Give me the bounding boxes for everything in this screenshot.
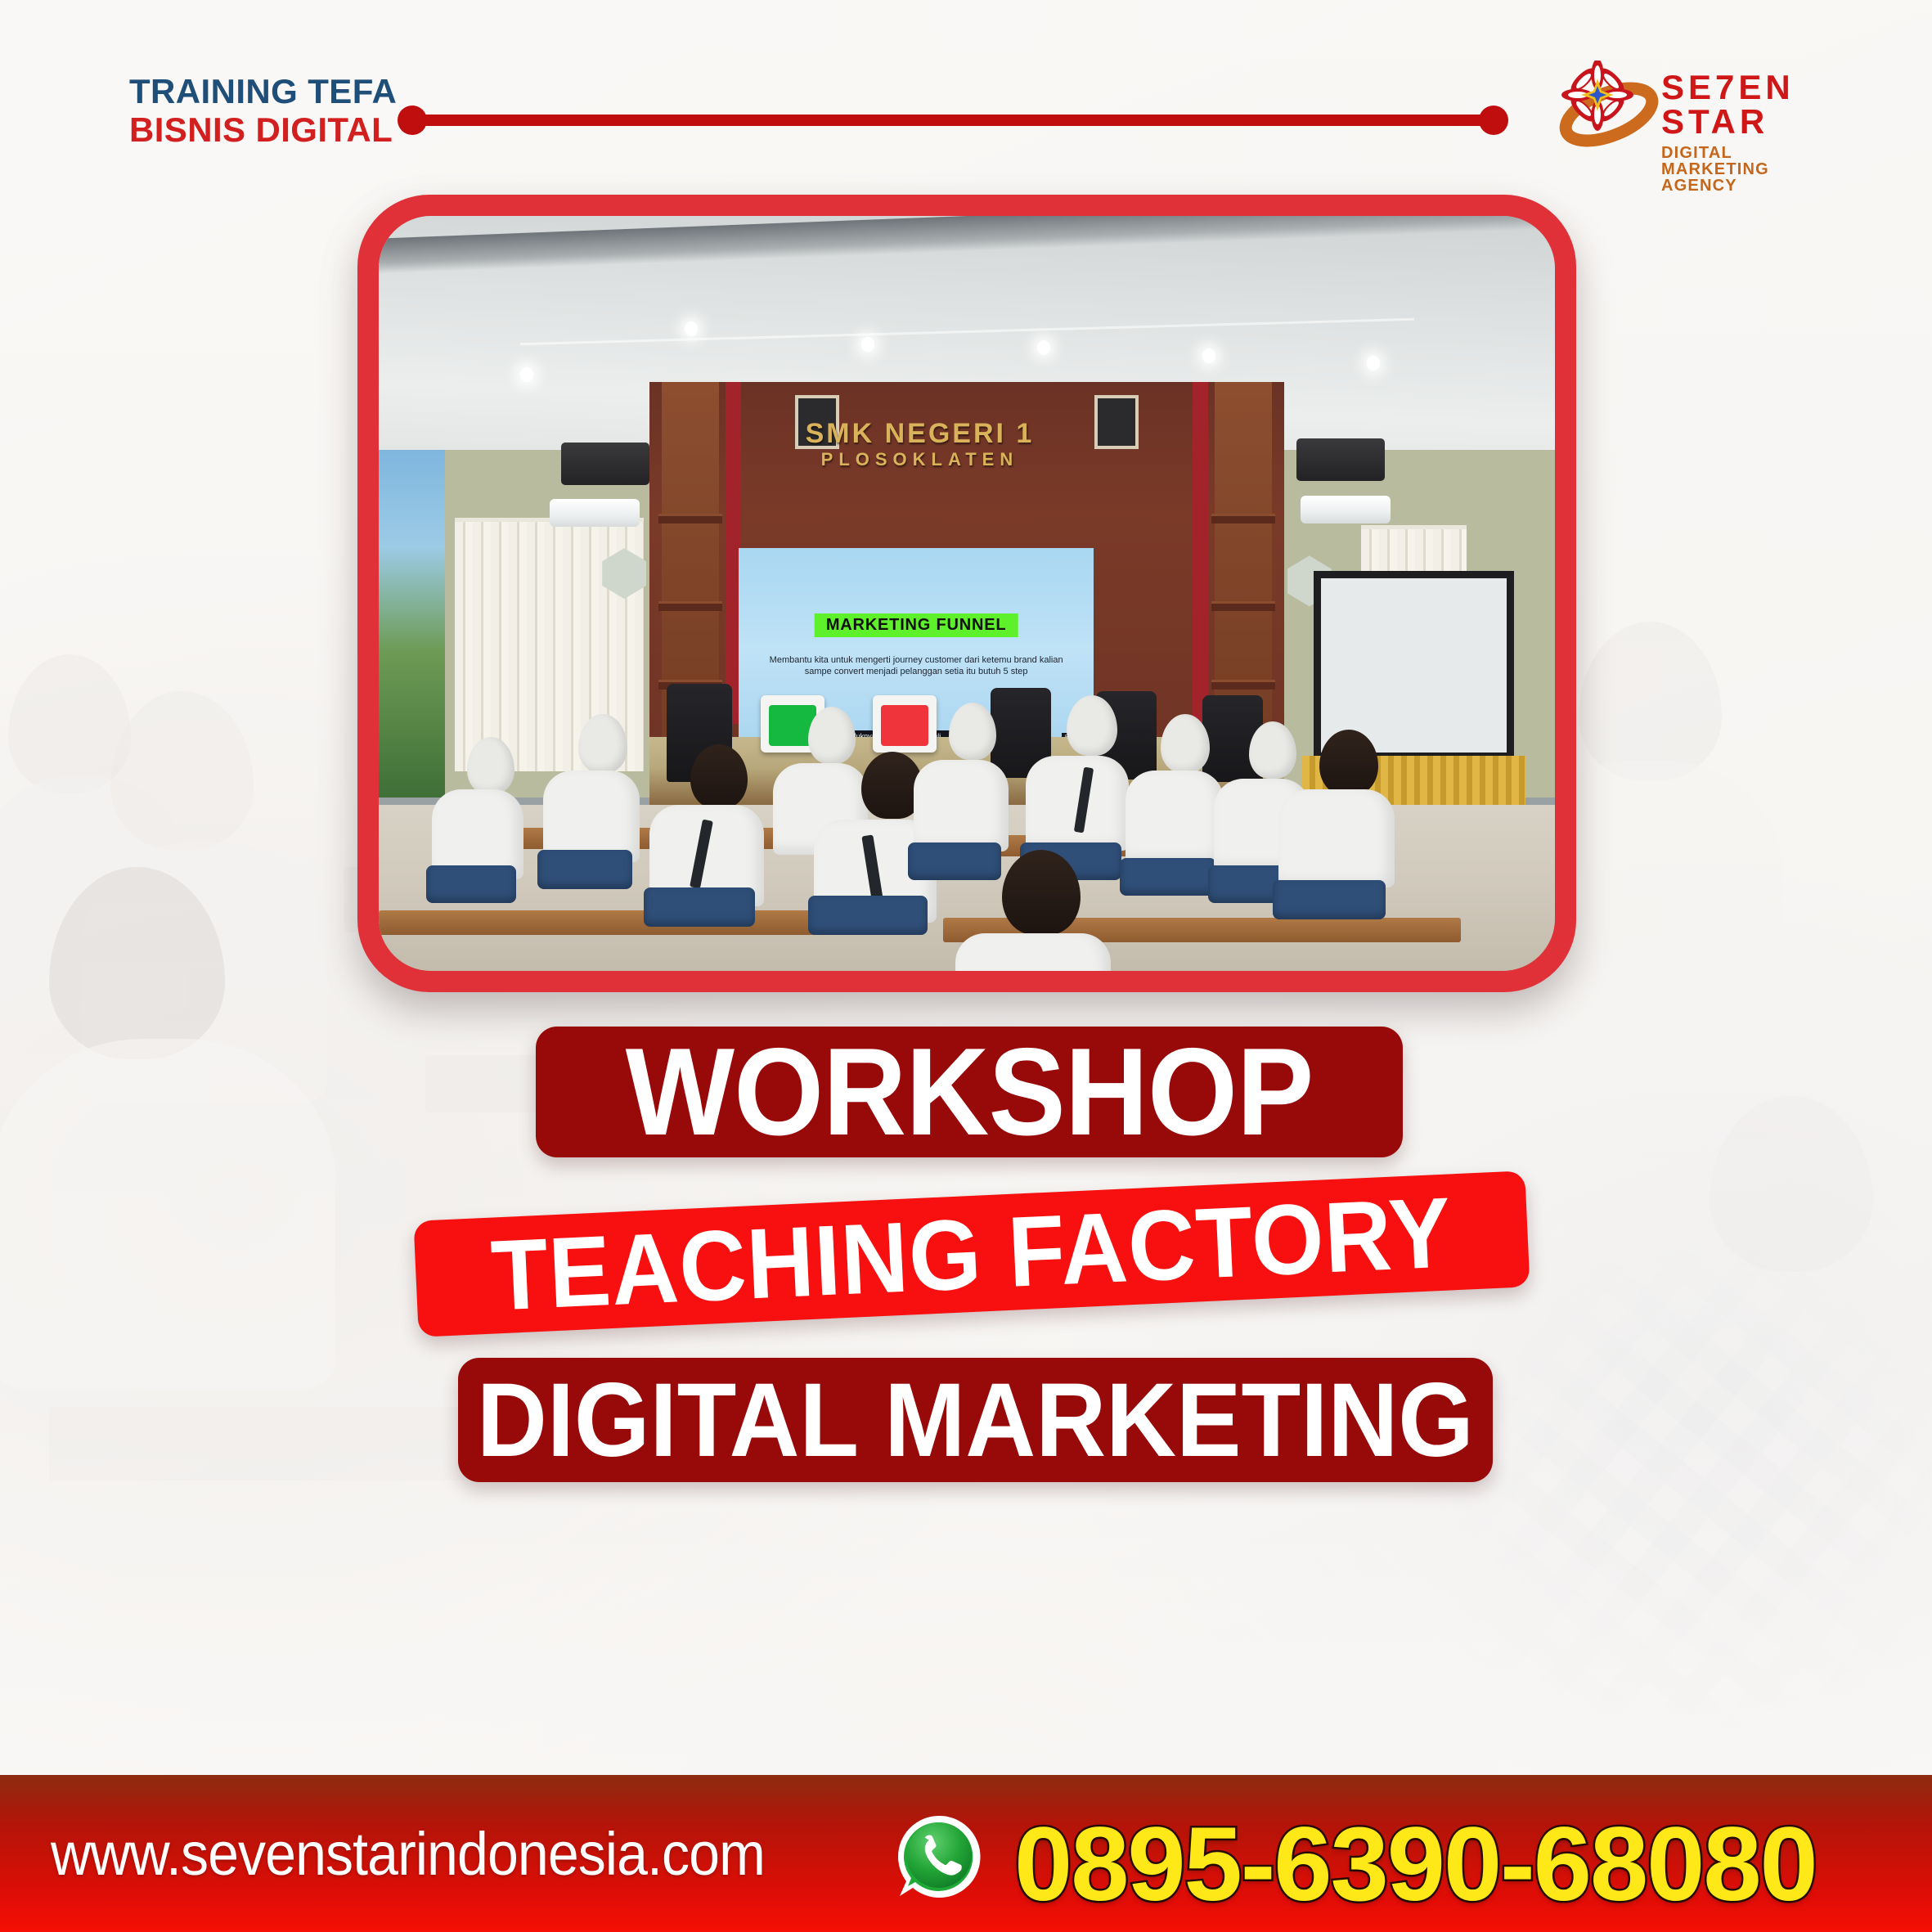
official-portrait-right xyxy=(1094,395,1139,449)
logo-tagline: DIGITAL MARKETING AGENCY xyxy=(1661,145,1828,194)
chair xyxy=(644,887,755,927)
contact-footer: www.sevenstarindonesia.com 0895-6390-680… xyxy=(0,1775,1932,1932)
chair xyxy=(1273,880,1386,919)
student-torso xyxy=(914,760,1009,851)
nature-mural xyxy=(379,450,445,798)
air-conditioner-right xyxy=(1301,496,1391,523)
headline-line-2: TEACHING FACTORY xyxy=(489,1175,1454,1332)
header: TRAINING TEFA BISNIS DIGITAL xyxy=(0,0,1932,180)
speaker-left xyxy=(561,443,649,485)
page-title: TRAINING TEFA BISNIS DIGITAL xyxy=(129,72,397,149)
chair xyxy=(426,865,516,903)
slide-title: MARKETING FUNNEL xyxy=(815,613,1018,637)
student-torso xyxy=(543,771,640,862)
school-name-line-2: PLOSOKLATEN xyxy=(744,449,1096,470)
slide-body-text: Membantu kita untuk mengerti journey cus… xyxy=(760,654,1072,678)
brand-logo: SE7EN STAR DIGITAL MARKETING AGENCY xyxy=(1558,59,1828,151)
student-torso xyxy=(1278,789,1395,887)
student-head xyxy=(690,744,748,808)
header-rule xyxy=(391,113,1515,128)
rule-bar xyxy=(412,115,1494,126)
title-line-1: TRAINING TEFA xyxy=(129,72,397,110)
student-torso-foreground xyxy=(955,933,1111,971)
chair xyxy=(908,842,1001,880)
workshop-photo-card: SMK NEGERI 1 PLOSOKLATEN MARKETING FUNNE… xyxy=(357,195,1576,992)
poster-canvas: TRAINING TEFA BISNIS DIGITAL xyxy=(0,0,1932,1932)
headline-line-1: WORKSHOP xyxy=(626,1021,1314,1164)
logo-wordmark: SE7EN STAR DIGITAL MARKETING AGENCY xyxy=(1661,70,1828,194)
chair xyxy=(1120,858,1216,896)
student-head-foreground xyxy=(1002,850,1081,935)
seven-star-flower-swoosh-logo-icon xyxy=(1558,61,1665,149)
chair xyxy=(537,850,632,889)
air-conditioner-left xyxy=(550,499,640,527)
whatsapp-icon[interactable] xyxy=(895,1813,983,1901)
school-name-line-1: SMK NEGERI 1 xyxy=(744,420,1096,449)
website-url[interactable]: www.sevenstarindonesia.com xyxy=(51,1819,765,1889)
headline-line-3: DIGITAL MARKETING xyxy=(477,1360,1474,1480)
speaker-right xyxy=(1296,438,1385,481)
headline-group: WORKSHOP TEACHING FACTORY DIGITAL MARKET… xyxy=(0,1014,1932,1530)
rule-dot-right-icon xyxy=(1479,106,1508,135)
chair xyxy=(808,896,928,935)
headline-badge-digital-marketing: DIGITAL MARKETING xyxy=(458,1358,1493,1482)
workshop-classroom-photo: SMK NEGERI 1 PLOSOKLATEN MARKETING FUNNE… xyxy=(379,216,1555,971)
school-signage: SMK NEGERI 1 PLOSOKLATEN xyxy=(744,420,1096,470)
headline-badge-workshop: WORKSHOP xyxy=(536,1027,1403,1157)
phone-number[interactable]: 0895-6390-68080 xyxy=(1014,1804,1817,1925)
logo-name: SE7EN STAR xyxy=(1661,70,1828,139)
student-torso xyxy=(1126,771,1224,864)
lightbox-red xyxy=(873,695,937,753)
student-head xyxy=(1249,721,1296,779)
student-torso xyxy=(1026,756,1129,851)
title-line-2: BISNIS DIGITAL xyxy=(129,110,397,149)
student-head xyxy=(808,707,856,764)
headline-badge-teaching-factory: TEACHING FACTORY xyxy=(413,1170,1530,1337)
